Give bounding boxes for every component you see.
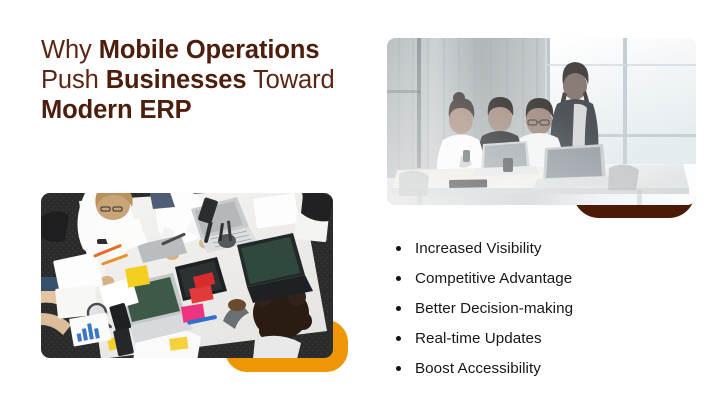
bullet-icon [396,246,401,251]
headline-line-2-light: Push [41,66,106,94]
list-item: Competitive Advantage [390,270,573,287]
list-item-label: Competitive Advantage [415,270,572,287]
bullet-icon [396,366,401,371]
headline-line-3: Modern ERP [41,95,371,125]
slide-canvas: Why Mobile Operations Push Businesses To… [0,0,721,410]
bullet-icon [396,336,401,341]
headline-line-1-light: Why [41,36,99,64]
list-item: Real-time Updates [390,330,573,347]
headline-line-1-bold: Mobile Operations [99,36,320,64]
bullet-icon [396,306,401,311]
desk-photo [41,193,333,358]
headline-line-1: Why Mobile Operations [41,35,371,65]
list-item: Better Decision-making [390,300,573,317]
list-item: Boost Accessibility [390,360,573,377]
list-item-label: Increased Visibility [415,240,542,257]
list-item-label: Boost Accessibility [415,360,541,377]
headline-line-2-bold: Businesses [106,66,247,94]
meeting-photo [387,38,696,205]
headline-line-3-bold: Modern ERP [41,96,192,124]
list-item-label: Real-time Updates [415,330,542,347]
headline-line-2-light-tail: Toward [246,66,334,94]
page-title: Why Mobile Operations Push Businesses To… [41,35,371,125]
bullet-icon [396,276,401,281]
list-item: Increased Visibility [390,240,573,257]
list-item-label: Better Decision-making [415,300,573,317]
headline-line-2: Push Businesses Toward [41,65,371,95]
benefits-list: Increased Visibility Competitive Advanta… [390,240,573,377]
